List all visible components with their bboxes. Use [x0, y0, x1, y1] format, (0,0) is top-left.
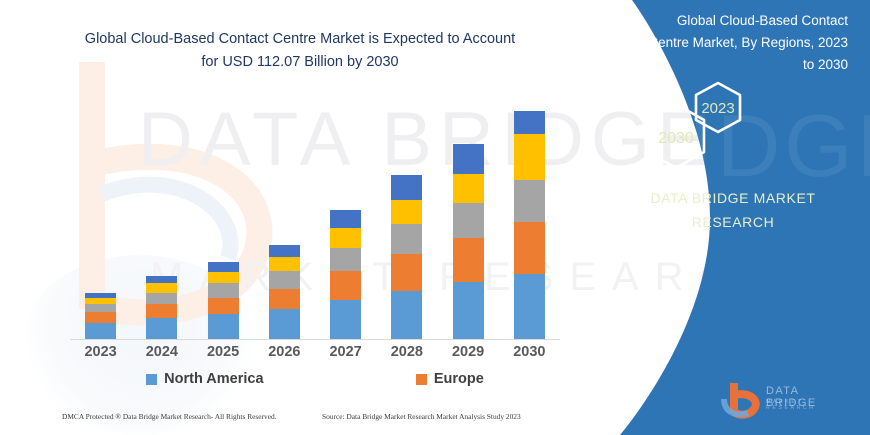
- bar-segment: [514, 111, 545, 134]
- bar-segment: [453, 282, 484, 339]
- bar-segment: [85, 323, 116, 339]
- bar-segment: [146, 304, 177, 318]
- legend-swatch-icon: [416, 374, 427, 385]
- right-panel: BRIDGE RCH Global Cloud-Based Contact Ce…: [560, 0, 870, 435]
- stacked-bar: [208, 262, 239, 339]
- legend-label: Europe: [434, 371, 484, 387]
- stacked-bar: [514, 111, 545, 339]
- bar-segment: [269, 309, 300, 339]
- bar-segment: [269, 257, 300, 271]
- bar-segment: [391, 200, 422, 225]
- bar-segment: [85, 298, 116, 305]
- chart-x-axis-labels: 20232024202520262027202820292030: [70, 344, 560, 360]
- footer-copyright: DMCA Protected ® Data Bridge Market Rese…: [62, 412, 277, 421]
- stacked-bar: [269, 245, 300, 339]
- bar-segment: [208, 314, 239, 339]
- bar-segment: [146, 293, 177, 304]
- legend-label: North America: [164, 371, 263, 387]
- brand-logo-subtext: MARKET RESEARCH: [766, 399, 852, 411]
- bar-segment: [330, 228, 361, 248]
- panel-title: Global Cloud-Based Contact Centre Market…: [623, 10, 848, 76]
- bar-segment: [208, 272, 239, 284]
- bar-group: [254, 95, 315, 339]
- page-title: Global Cloud-Based Contact Centre Market…: [40, 28, 560, 74]
- bar-segment: [514, 180, 545, 222]
- x-axis-label: 2030: [499, 344, 560, 360]
- bar-segment: [269, 289, 300, 310]
- bar-group: [131, 95, 192, 339]
- panel-brand-line-2: RESEARCH: [692, 214, 775, 230]
- page-title-line-2: for USD 112.07 Billion by 2030: [201, 54, 398, 70]
- x-axis-label: 2025: [193, 344, 254, 360]
- bar-segment: [146, 283, 177, 293]
- bar-segment: [85, 312, 116, 322]
- stacked-bar: [453, 144, 484, 339]
- stacked-bar: [391, 175, 422, 339]
- panel-brand: DATA BRIDGE MARKET RESEARCH: [560, 186, 870, 234]
- bar-segment: [330, 248, 361, 272]
- bar-segment: [208, 283, 239, 297]
- bar-segment: [330, 300, 361, 339]
- chart-legend: North AmericaEurope: [70, 371, 560, 387]
- bar-segment: [146, 318, 177, 339]
- brand-logo-icon: [720, 379, 764, 419]
- brand-logo: DATA BRIDGE MARKET RESEARCH: [720, 379, 852, 419]
- x-axis-label: 2028: [376, 344, 437, 360]
- panel-watermark-title: BRIDGE: [558, 95, 870, 197]
- bar-segment: [208, 298, 239, 315]
- bar-segment: [453, 144, 484, 173]
- bar-segment: [391, 291, 422, 339]
- x-axis-label: 2024: [131, 344, 192, 360]
- footer-source: Source: Data Bridge Market Research Mark…: [322, 412, 521, 421]
- bar-segment: [146, 276, 177, 283]
- bar-group: [499, 95, 560, 339]
- legend-item[interactable]: North America: [146, 371, 263, 387]
- bar-segment: [85, 304, 116, 312]
- x-axis-label: 2029: [438, 344, 499, 360]
- bar-segment: [269, 271, 300, 288]
- bar-segment: [391, 224, 422, 254]
- stacked-bar: [146, 276, 177, 339]
- panel-brand-line-1: DATA BRIDGE MARKET: [650, 190, 815, 206]
- panel-title-line-1: Global Cloud-Based Contact: [677, 13, 848, 28]
- bar-group: [315, 95, 376, 339]
- panel-title-line-2: Centre Market, By Regions, 2023: [648, 35, 848, 50]
- x-axis-label: 2026: [254, 344, 315, 360]
- x-axis-label: 2027: [315, 344, 376, 360]
- page-title-line-1: Global Cloud-Based Contact Centre Market…: [85, 31, 515, 47]
- footer: DMCA Protected ® Data Bridge Market Rese…: [0, 412, 600, 430]
- bar-segment: [453, 238, 484, 282]
- bar-segment: [453, 174, 484, 204]
- bar-segment: [330, 271, 361, 300]
- chart-axis-line: [70, 339, 560, 340]
- stacked-bar: [85, 293, 116, 339]
- bar-group: [70, 95, 131, 339]
- legend-item[interactable]: Europe: [416, 371, 484, 387]
- x-axis-label: 2023: [70, 344, 131, 360]
- panel-watermark-subtitle: RCH: [556, 248, 707, 313]
- bar-group: [193, 95, 254, 339]
- bar-segment: [330, 210, 361, 229]
- bar-segment: [514, 134, 545, 180]
- bar-segment: [514, 274, 545, 339]
- bar-group: [376, 95, 437, 339]
- bar-segment: [208, 262, 239, 272]
- bar-segment: [269, 245, 300, 257]
- panel-title-line-3: to 2030: [803, 57, 848, 72]
- bar-segment: [453, 203, 484, 238]
- stacked-bar: [330, 210, 361, 339]
- legend-swatch-icon: [146, 374, 157, 385]
- infographic-root: DATA BRIDGE MARKET RESEARCH Global Cloud…: [0, 0, 870, 435]
- bar-segment: [391, 175, 422, 200]
- bar-segment: [391, 254, 422, 291]
- stacked-bar-chart: [70, 95, 560, 340]
- chart-bars: [70, 95, 560, 339]
- bar-group: [438, 95, 499, 339]
- bar-segment: [514, 222, 545, 274]
